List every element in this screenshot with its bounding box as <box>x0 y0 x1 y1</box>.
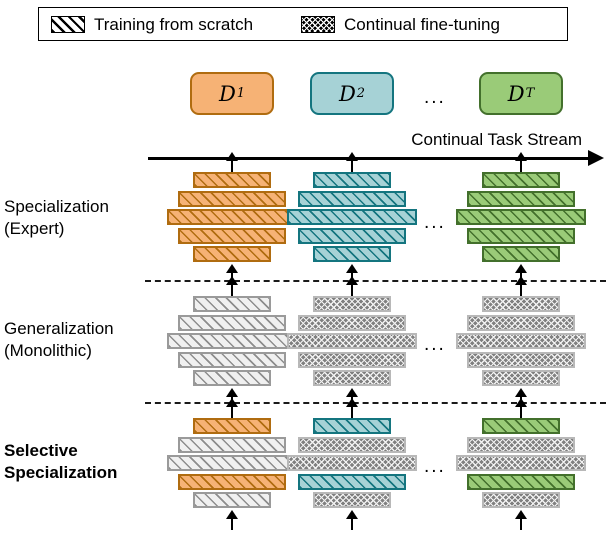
network-layer <box>193 296 271 312</box>
network-layer <box>456 455 586 471</box>
network-layer <box>178 474 286 490</box>
input-arrow-selective-specialization-task-1 <box>226 510 238 530</box>
network-layer <box>482 172 560 188</box>
network-layer <box>178 228 286 244</box>
up-arrow-icon <box>346 388 358 397</box>
network-layer <box>178 437 286 453</box>
network-layer <box>287 333 417 349</box>
dataset-symbol: D <box>339 82 356 106</box>
output-arrow-specialization-task-1 <box>226 152 238 172</box>
legend-entry-training-from-scratch: Training from scratch <box>51 8 253 40</box>
task-stream-label: Continual Task Stream <box>411 130 582 150</box>
network-stack-generalization-task-2 <box>287 296 417 386</box>
network-layer <box>193 172 271 188</box>
network-stack-specialization-task-1 <box>167 172 297 262</box>
up-arrow-icon <box>346 264 358 273</box>
up-arrow-icon <box>515 510 527 519</box>
network-layer <box>298 474 406 490</box>
row-label-line1: Generalization <box>4 318 114 340</box>
task-stream-axis-line <box>148 157 600 160</box>
network-stack-selective-specialization-task-T <box>456 418 586 508</box>
network-layer <box>313 296 391 312</box>
row-label-selective-specialization: Selective Specialization <box>4 440 117 484</box>
network-layer <box>482 246 560 262</box>
network-layer <box>298 437 406 453</box>
network-layer <box>193 246 271 262</box>
network-stack-selective-specialization-task-2 <box>287 418 417 508</box>
network-layer <box>482 492 560 508</box>
network-layer <box>298 315 406 331</box>
legend: Training from scratch Continual fine-tun… <box>38 7 568 41</box>
network-layer <box>178 315 286 331</box>
row-label-specialization: Specialization (Expert) <box>4 196 109 240</box>
output-arrow-generalization-task-T <box>515 276 527 296</box>
network-layer <box>482 370 560 386</box>
output-arrow-specialization-task-2 <box>346 152 358 172</box>
network-layer <box>298 352 406 368</box>
row-label-line1: Selective <box>4 440 117 462</box>
network-layer <box>456 209 586 225</box>
legend-entry-continual-fine-tuning: Continual fine-tuning <box>301 8 500 40</box>
network-layer <box>167 333 297 349</box>
dataset-box-d2: D2 <box>310 72 394 115</box>
network-layer <box>467 191 575 207</box>
up-arrow-icon <box>515 398 527 407</box>
up-arrow-icon <box>515 388 527 397</box>
row-ellipsis-generalization: ... <box>424 335 446 354</box>
network-layer <box>167 455 297 471</box>
dataset-subscript: 1 <box>237 86 245 101</box>
network-layer <box>467 474 575 490</box>
dataset-subscript: T <box>526 86 535 101</box>
row-label-line2: (Expert) <box>4 218 109 240</box>
dataset-box-dt: DT <box>479 72 563 115</box>
network-layer <box>287 209 417 225</box>
row-label-line2: Specialization <box>4 462 117 484</box>
network-layer <box>467 228 575 244</box>
network-layer <box>193 492 271 508</box>
up-arrow-icon <box>346 276 358 285</box>
dataset-symbol: D <box>508 82 525 106</box>
output-arrow-specialization-task-T <box>515 152 527 172</box>
up-arrow-icon <box>226 264 238 273</box>
network-layer <box>467 437 575 453</box>
network-stack-generalization-task-1 <box>167 296 297 386</box>
right-arrow-icon <box>588 150 604 166</box>
network-layer <box>467 315 575 331</box>
row-ellipsis-selective: ... <box>424 457 446 476</box>
up-arrow-icon <box>515 152 527 161</box>
dataset-symbol: D <box>219 82 236 106</box>
network-layer <box>313 246 391 262</box>
dataset-subscript: 2 <box>357 86 365 101</box>
up-arrow-icon <box>515 276 527 285</box>
network-stack-selective-specialization-task-1 <box>167 418 297 508</box>
row-separator-2 <box>145 402 606 404</box>
output-arrow-generalization-task-2 <box>346 276 358 296</box>
output-arrow-selective-specialization-task-2 <box>346 398 358 418</box>
network-layer <box>456 333 586 349</box>
crosshatch-swatch <box>301 16 335 33</box>
network-layer <box>167 209 297 225</box>
network-layer <box>193 370 271 386</box>
up-arrow-icon <box>346 510 358 519</box>
network-layer <box>482 418 560 434</box>
legend-label-training-from-scratch: Training from scratch <box>94 16 253 33</box>
network-layer <box>467 352 575 368</box>
network-layer <box>482 296 560 312</box>
up-arrow-icon <box>226 276 238 285</box>
row-label-generalization: Generalization (Monolithic) <box>4 318 114 362</box>
input-arrow-selective-specialization-task-T <box>515 510 527 530</box>
network-layer <box>178 352 286 368</box>
up-arrow-icon <box>515 264 527 273</box>
up-arrow-icon <box>226 510 238 519</box>
row-label-line2: (Monolithic) <box>4 340 114 362</box>
output-arrow-generalization-task-1 <box>226 276 238 296</box>
dataset-box-d1: D1 <box>190 72 274 115</box>
network-layer <box>313 172 391 188</box>
network-layer <box>298 228 406 244</box>
row-separator-1 <box>145 280 606 282</box>
up-arrow-icon <box>226 398 238 407</box>
dataset-ellipsis: ... <box>424 88 446 107</box>
network-stack-specialization-task-T <box>456 172 586 262</box>
up-arrow-icon <box>226 152 238 161</box>
output-arrow-selective-specialization-task-1 <box>226 398 238 418</box>
network-layer <box>178 191 286 207</box>
input-arrow-selective-specialization-task-2 <box>346 510 358 530</box>
network-layer <box>298 191 406 207</box>
diagonal-hatch-swatch <box>51 16 85 33</box>
network-layer <box>193 418 271 434</box>
network-stack-generalization-task-T <box>456 296 586 386</box>
up-arrow-icon <box>346 398 358 407</box>
network-layer <box>313 492 391 508</box>
row-ellipsis-specialization: ... <box>424 213 446 232</box>
network-layer <box>287 455 417 471</box>
row-label-line1: Specialization <box>4 196 109 218</box>
output-arrow-selective-specialization-task-T <box>515 398 527 418</box>
network-layer <box>313 418 391 434</box>
up-arrow-icon <box>226 388 238 397</box>
network-stack-specialization-task-2 <box>287 172 417 262</box>
legend-label-continual-fine-tuning: Continual fine-tuning <box>344 16 500 33</box>
network-layer <box>313 370 391 386</box>
up-arrow-icon <box>346 152 358 161</box>
